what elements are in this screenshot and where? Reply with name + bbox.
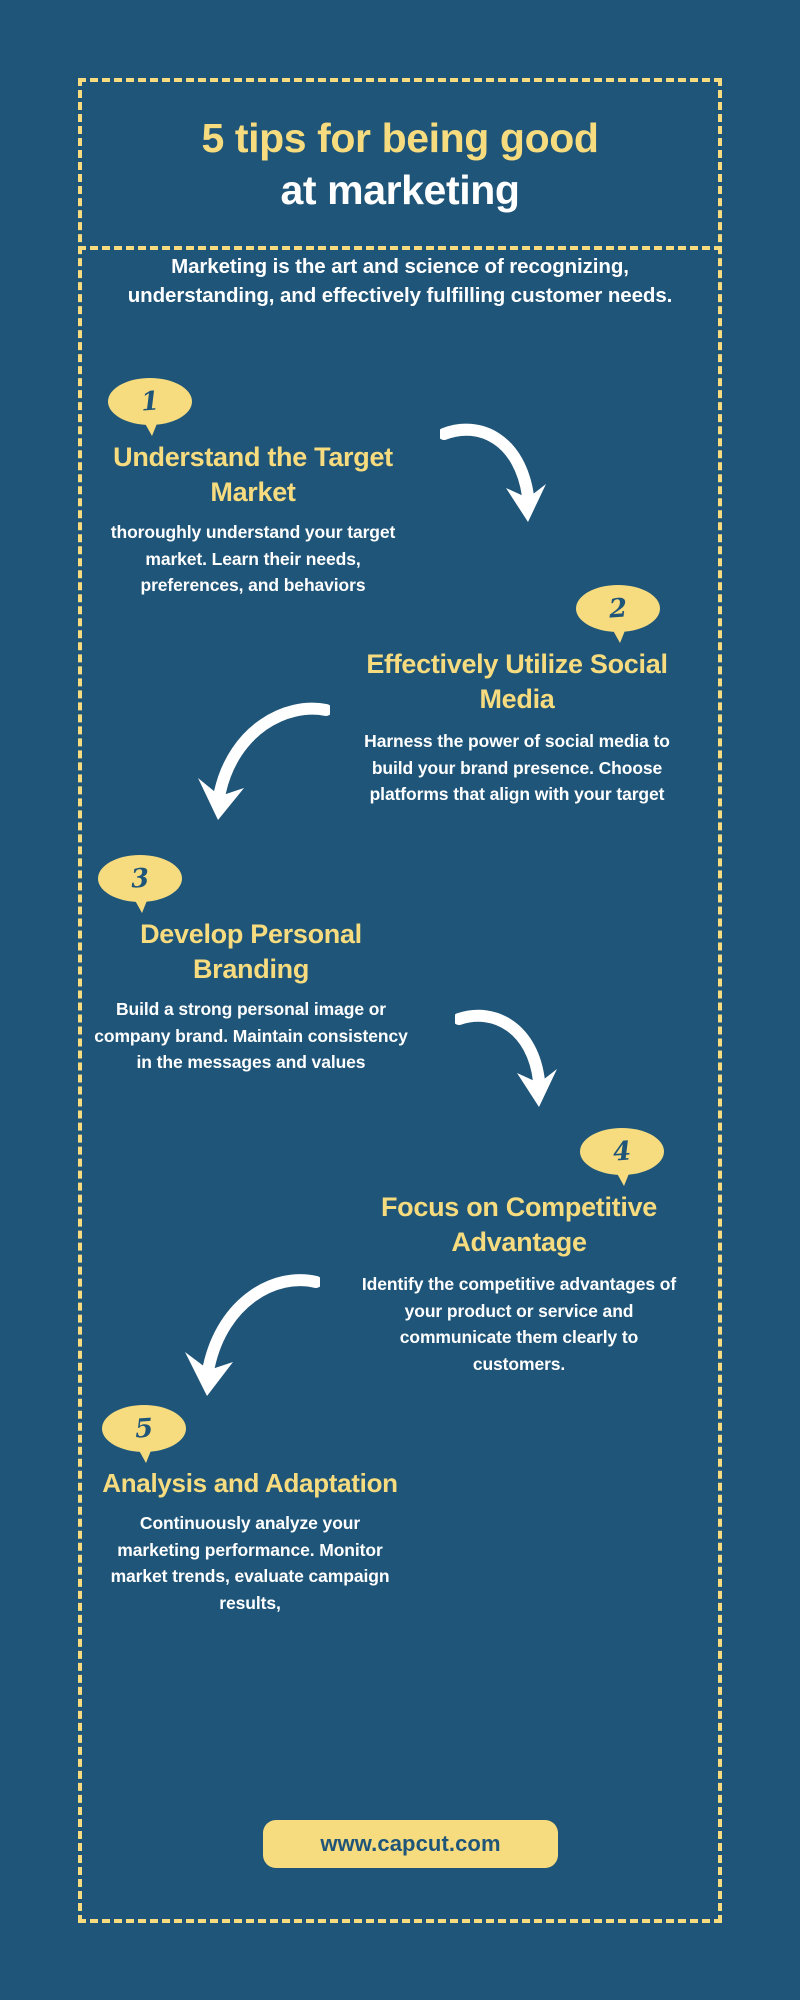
number-badge-3: 3 (98, 855, 182, 913)
tip-body-3: Build a strong personal image or company… (80, 996, 422, 1076)
number-badge-5: 5 (102, 1405, 186, 1463)
tip-section-1: 1 Understand the Target Market thoroughl… (88, 378, 418, 599)
tip-section-2: 2 Effectively Utilize Social Media Harne… (352, 585, 682, 808)
page-title-line-2: at marketing (281, 165, 520, 215)
number-badge-2: 2 (576, 585, 660, 643)
footer-url-label: www.capcut.com (320, 1831, 500, 1857)
footer-url-button[interactable]: www.capcut.com (263, 1820, 558, 1868)
tip-heading-3: Develop Personal Branding (80, 917, 422, 986)
number-badge-1: 1 (108, 378, 192, 436)
tip-heading-2: Effectively Utilize Social Media (352, 647, 682, 716)
tip-heading-4: Focus on Competitive Advantage (348, 1190, 690, 1259)
tip-heading-5: Analysis and Adaptation (80, 1467, 420, 1500)
tip-body-5: Continuously analyze your marketing perf… (80, 1510, 420, 1616)
infographic-poster: 5 tips for being good at marketing Marke… (0, 0, 800, 2000)
tip-body-4: Identify the competitive advantages of y… (348, 1271, 690, 1377)
page-title-line-1: 5 tips for being good (201, 113, 598, 163)
tip-section-3: 3 Develop Personal Branding Build a stro… (80, 855, 422, 1076)
poster-header: 5 tips for being good at marketing (78, 82, 722, 250)
tip-section-5: 5 Analysis and Adaptation Continuously a… (80, 1405, 420, 1617)
number-badge-4: 4 (580, 1128, 664, 1186)
intro-paragraph: Marketing is the art and science of reco… (110, 252, 690, 311)
tip-section-4: 4 Focus on Competitive Advantage Identif… (348, 1128, 690, 1377)
tip-body-2: Harness the power of social media to bui… (352, 728, 682, 808)
tip-heading-1: Understand the Target Market (88, 440, 418, 509)
